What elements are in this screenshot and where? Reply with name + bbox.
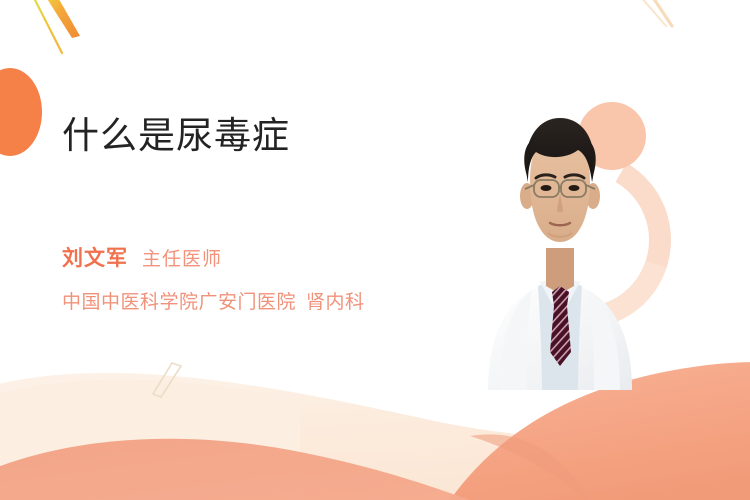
eye-right — [569, 185, 580, 191]
eye-left — [541, 185, 552, 191]
diagonal-faint-line-a-top-right — [640, 0, 666, 26]
poster-card: 什么是尿毒症 刘文军主任医师 中国中医科学院广安门医院肾内科 — [0, 0, 750, 500]
page-title: 什么是尿毒症 — [62, 113, 290, 159]
affiliation-institution: 中国中医科学院广安门医院 — [62, 291, 296, 313]
text-content: 什么是尿毒症 刘文军主任医师 中国中医科学院广安门医院肾内科 — [62, 0, 482, 500]
affiliation-department: 肾内科 — [306, 291, 365, 313]
diagonal-yellow-line-top-left — [33, 0, 62, 53]
affiliation: 中国中医科学院广安门医院肾内科 — [62, 287, 365, 314]
salmon-wave-inner-shadow — [470, 434, 590, 500]
doctor-name: 刘文军 — [62, 246, 128, 270]
doctor-portrait — [470, 90, 690, 390]
diagonal-faint-line-b-top-right — [652, 0, 672, 26]
orange-circle-left — [0, 68, 42, 156]
byline: 刘文军主任医师 — [62, 248, 222, 269]
doctor-role: 主任医师 — [142, 248, 222, 270]
portrait-svg — [470, 90, 690, 390]
